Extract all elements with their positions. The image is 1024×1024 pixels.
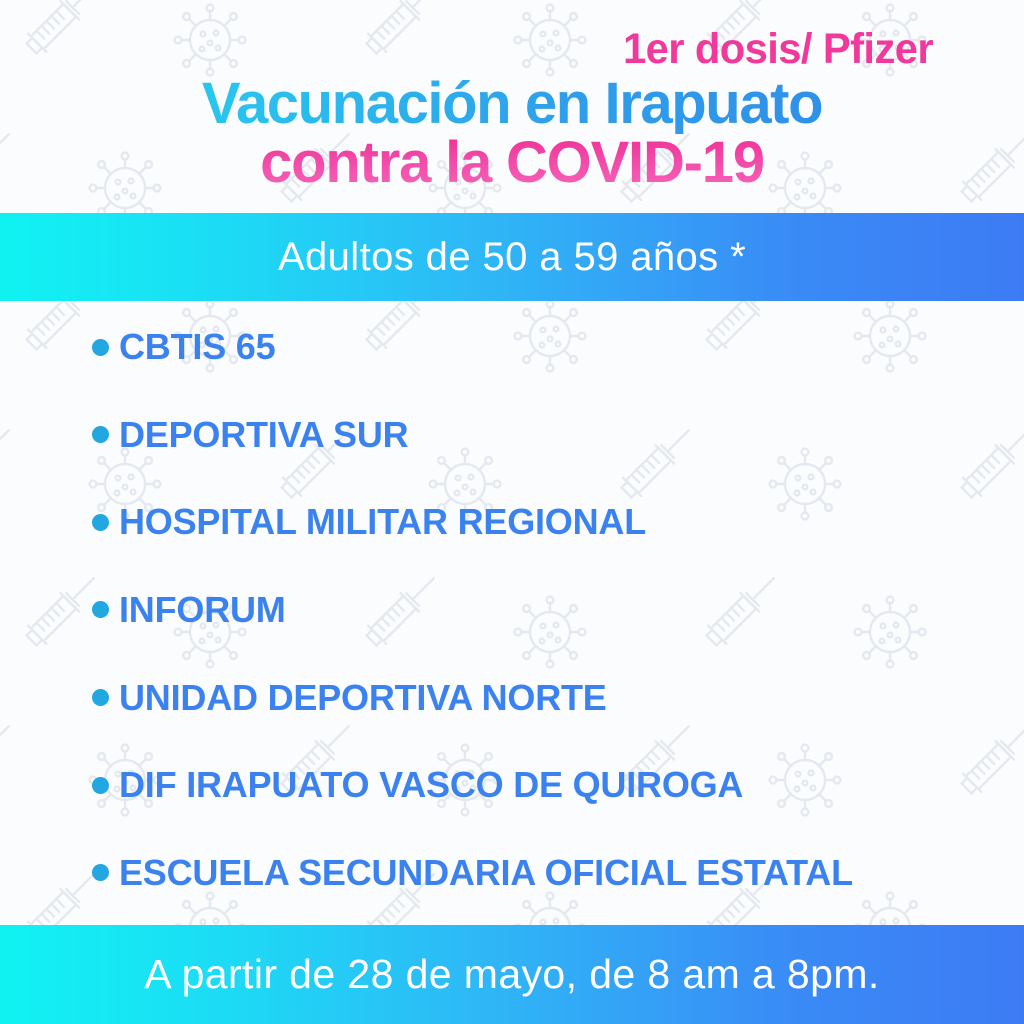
bullet-icon: [92, 339, 109, 356]
vaccination-poster: 1er dosis/ Pfizer Vacunación en Irapuato…: [0, 0, 1024, 1024]
list-item: ESCUELA SECUNDARIA OFICIAL ESTATAL: [0, 852, 1024, 894]
bullet-icon: [92, 514, 109, 531]
list-item: HOSPITAL MILITAR REGIONAL: [0, 501, 1024, 543]
bullet-icon: [92, 777, 109, 794]
date-text: A partir de 28 de mayo, de 8 am a 8pm.: [144, 951, 879, 998]
venue-label: CBTIS 65: [119, 326, 275, 368]
venue-label: ESCUELA SECUNDARIA OFICIAL ESTATAL: [119, 852, 853, 894]
list-item: DEPORTIVA SUR: [0, 414, 1024, 456]
age-group-banner: Adultos de 50 a 59 años *: [0, 213, 1024, 301]
page-subtitle: contra la COVID-19: [0, 132, 1024, 193]
venue-label: UNIDAD DEPORTIVA NORTE: [119, 677, 607, 719]
list-item: CBTIS 65: [0, 326, 1024, 368]
list-item: INFORUM: [0, 589, 1024, 631]
date-banner: A partir de 28 de mayo, de 8 am a 8pm.: [0, 925, 1024, 1024]
age-group-text: Adultos de 50 a 59 años *: [278, 235, 746, 280]
bullet-icon: [92, 864, 109, 881]
bullet-icon: [92, 601, 109, 618]
venue-label: DIF IRAPUATO VASCO DE QUIROGA: [119, 764, 743, 806]
venue-label: HOSPITAL MILITAR REGIONAL: [119, 501, 646, 543]
poster-title-block: 1er dosis/ Pfizer Vacunación en Irapuato…: [0, 0, 1024, 194]
list-item: DIF IRAPUATO VASCO DE QUIROGA: [0, 764, 1024, 806]
page-title: Vacunación en Irapuato: [0, 73, 1024, 134]
venue-list: CBTIS 65DEPORTIVA SURHOSPITAL MILITAR RE…: [0, 312, 1024, 912]
list-item: UNIDAD DEPORTIVA NORTE: [0, 677, 1024, 719]
venue-label: INFORUM: [119, 589, 286, 631]
dose-headline: 1er dosis/ Pfizer: [15, 28, 1008, 71]
venue-label: DEPORTIVA SUR: [119, 414, 408, 456]
bullet-icon: [92, 426, 109, 443]
bullet-icon: [92, 689, 109, 706]
